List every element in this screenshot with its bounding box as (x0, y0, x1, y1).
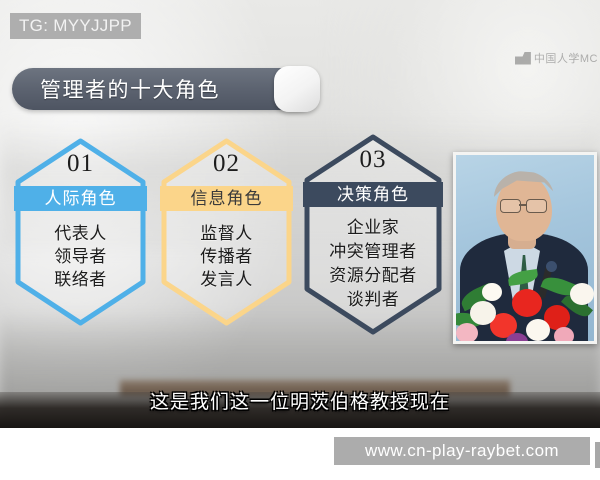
photo-glasses-lens-right (526, 199, 547, 213)
video-frame: 中国人学MC 管理者的十大角色 01 人际角色 代表人 领导者 联络者 02 信… (0, 0, 600, 428)
list-item: 谈判者 (303, 288, 443, 312)
role-card-1: 01 人际角色 代表人 领导者 联络者 (14, 136, 147, 328)
role-card-1-items: 代表人 领导者 联络者 (14, 222, 147, 291)
scrollbar-nub[interactable] (595, 442, 600, 468)
page-title: 管理者的十大角色 (40, 74, 220, 104)
role-card-3: 03 决策角色 企业家 冲突管理者 资源分配者 谈判者 (303, 132, 443, 337)
title-knob-decoration (274, 66, 320, 112)
slide-title-pill: 管理者的十大角色 (12, 68, 317, 110)
photo-flower-bouquet (453, 261, 597, 344)
list-item: 冲突管理者 (303, 240, 443, 264)
role-card-3-items: 企业家 冲突管理者 资源分配者 谈判者 (303, 216, 443, 312)
role-card-2-banner: 信息角色 (160, 186, 293, 211)
photo-glasses-lens-left (500, 199, 521, 213)
photo-glasses-bridge (519, 204, 526, 206)
role-card-1-number: 01 (14, 150, 147, 178)
tg-handle-badge: TG: MYYJJPP (10, 13, 141, 39)
role-card-3-banner: 决策角色 (303, 182, 443, 207)
list-item: 领导者 (14, 245, 147, 268)
list-item: 代表人 (14, 222, 147, 245)
role-card-2-number: 02 (160, 150, 293, 178)
role-card-1-banner: 人际角色 (14, 186, 147, 211)
list-item: 资源分配者 (303, 264, 443, 288)
list-item: 监督人 (160, 222, 293, 245)
channel-logo-icon (515, 52, 531, 65)
list-item: 企业家 (303, 216, 443, 240)
speaker-photo (453, 152, 597, 344)
role-card-2: 02 信息角色 监督人 传播者 发言人 (160, 136, 293, 328)
role-card-3-number: 03 (303, 146, 443, 174)
subtitle-text: 这是我们这一位明茨伯格教授现在 (0, 387, 600, 414)
role-card-2-items: 监督人 传播者 发言人 (160, 222, 293, 291)
list-item: 联络者 (14, 268, 147, 291)
list-item: 发言人 (160, 268, 293, 291)
channel-logo-label: 中国人学MC (534, 50, 598, 66)
photo-glasses (499, 199, 549, 212)
site-watermark: www.cn-play-raybet.com (334, 437, 590, 465)
channel-logo: 中国人学MC (515, 50, 598, 66)
list-item: 传播者 (160, 245, 293, 268)
